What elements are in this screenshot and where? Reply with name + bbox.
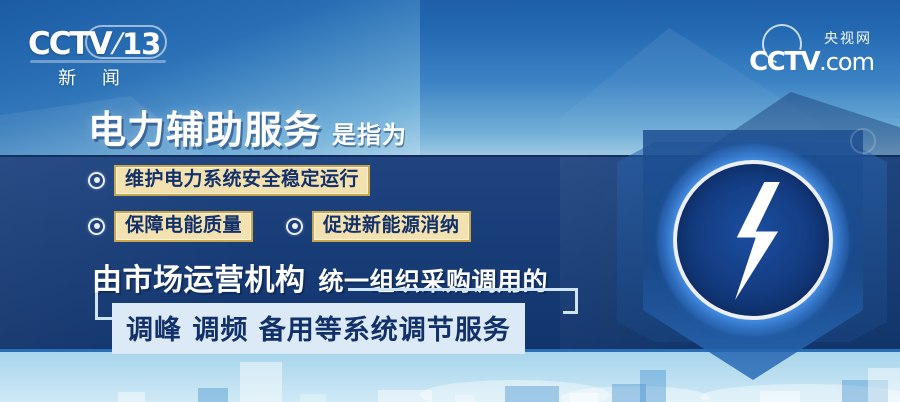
- bullet-item-2: 保障电能质量: [88, 211, 253, 242]
- bullet-item-1: 维护电力系统安全稳定运行: [88, 165, 370, 196]
- bullet-label-1: 维护电力系统安全稳定运行: [114, 165, 370, 196]
- body-line-4-label: 调峰 调频 备用等系统调节服务: [126, 315, 511, 346]
- headline-main: 电力辅助服务: [88, 99, 322, 154]
- cctv13-subtitle: 新 闻: [28, 64, 160, 90]
- underline-rule: [348, 288, 578, 291]
- bullet-item-3: 促进新能源消纳: [286, 211, 471, 242]
- bracket-left-vertical: [95, 292, 98, 320]
- cctv13-number: 13: [122, 27, 160, 61]
- emblem-disc: [673, 160, 833, 320]
- bracket-right-horizontal: [563, 311, 578, 314]
- bracket-left-horizontal: [95, 317, 113, 320]
- body-line-3: 由市场运营机构 统一组织采购调用的: [92, 255, 548, 299]
- cctv-com-logo: 央视网 CCTV.com: [704, 28, 874, 76]
- target-circle-icon: [88, 172, 105, 189]
- broadcast-graphic: CCTV/13 新 闻 央视网 CCTV.com 电力辅助服务 是指为 维护电力…: [0, 0, 900, 402]
- cctv-com-chinese: 央视网: [704, 28, 874, 48]
- body-line-3-secondary: 统一组织采购调用的: [319, 262, 549, 298]
- headline: 电力辅助服务 是指为: [88, 99, 407, 154]
- background-ring-icon: [850, 128, 876, 154]
- body-line-4-banner: 调峰 调频 备用等系统调节服务: [112, 303, 525, 353]
- bullet-label-2: 保障电能质量: [114, 211, 253, 242]
- cctv13-underbar: [30, 60, 166, 63]
- cctv-com-tld: .com: [819, 48, 874, 76]
- cctv13-logo: CCTV/13 新 闻: [28, 27, 168, 85]
- lightning-emblem: [625, 120, 895, 385]
- target-circle-icon: [286, 218, 303, 235]
- cctv13-wordmark: CCTV: [28, 29, 111, 60]
- headline-suffix: 是指为: [332, 115, 407, 150]
- bullet-label-3: 促进新能源消纳: [312, 211, 471, 242]
- target-circle-icon: [88, 218, 105, 235]
- body-line-3-primary: 由市场运营机构: [92, 255, 306, 299]
